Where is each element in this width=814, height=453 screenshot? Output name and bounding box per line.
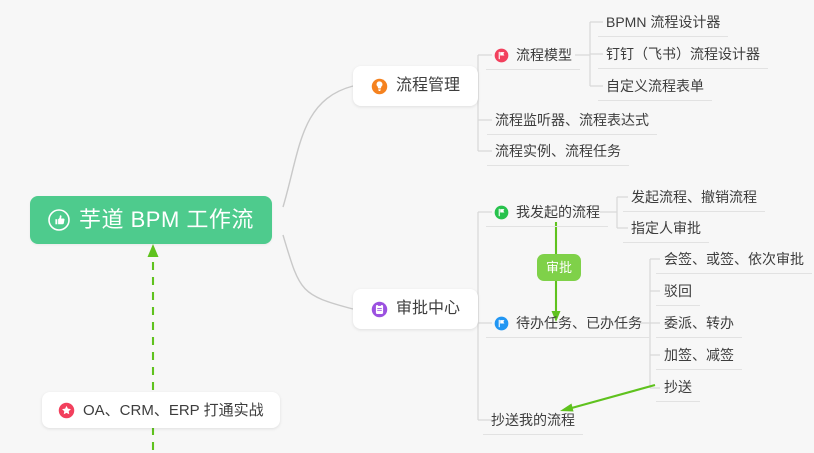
node-my-started-processes[interactable]: 我发起的流程 (486, 198, 608, 227)
leaf-label-bpmn-designer: BPMN 流程设计器 (606, 15, 720, 29)
leaf-label-cc: 抄送 (664, 380, 692, 394)
leaf-label-dingtalk-designer: 钉钉（飞书）流程设计器 (606, 47, 760, 61)
tag-label-approve: 审批 (546, 261, 572, 274)
clipboard-icon (371, 301, 388, 318)
lightbulb-icon (371, 78, 388, 95)
leaf-reject[interactable]: 驳回 (656, 277, 700, 306)
leaf-assignee-approval[interactable]: 指定人审批 (623, 214, 709, 243)
leaf-label-instance-task: 流程实例、流程任务 (495, 144, 621, 158)
leaf-instance-task[interactable]: 流程实例、流程任务 (487, 137, 629, 166)
leaf-label-countersign: 会签、或签、依次审批 (664, 252, 804, 266)
leaf-delegate-transfer[interactable]: 委派、转办 (656, 309, 742, 338)
leaf-label-assignee-approval: 指定人审批 (631, 221, 701, 235)
flag-icon-blue (494, 316, 509, 331)
tag-approve[interactable]: 审批 (537, 254, 581, 281)
node-process-management[interactable]: 流程管理 (353, 66, 478, 106)
leaf-cc-to-me[interactable]: 抄送我的流程 (483, 406, 583, 435)
leaf-label-add-remove-sign: 加签、减签 (664, 348, 734, 362)
leaf-listener-expression[interactable]: 流程监听器、流程表达式 (487, 106, 657, 135)
node-todo-done-tasks[interactable]: 待办任务、已办任务 (486, 309, 650, 338)
leaf-label-custom-form: 自定义流程表单 (606, 79, 704, 93)
leaf-label-reject: 驳回 (664, 284, 692, 298)
node-label-integration-practice: OA、CRM、ERP 打通实战 (83, 403, 264, 418)
leaf-dingtalk-designer[interactable]: 钉钉（飞书）流程设计器 (598, 40, 768, 69)
star-icon (58, 402, 75, 419)
leaf-label-cc-to-me: 抄送我的流程 (491, 413, 575, 427)
node-process-model[interactable]: 流程模型 (486, 41, 580, 70)
leaf-bpmn-designer[interactable]: BPMN 流程设计器 (598, 8, 728, 37)
node-label-approval-center: 审批中心 (396, 301, 460, 317)
root-node[interactable]: 芋道 BPM 工作流 (30, 196, 272, 244)
leaf-add-remove-sign[interactable]: 加签、减签 (656, 341, 742, 370)
node-label-process-model: 流程模型 (516, 48, 572, 62)
flag-icon-red (494, 48, 509, 63)
flag-icon-green (494, 205, 509, 220)
leaf-label-start-cancel-process: 发起流程、撤销流程 (631, 190, 757, 204)
thumbs-up-icon (48, 209, 70, 231)
leaf-label-delegate-transfer: 委派、转办 (664, 316, 734, 330)
node-approval-center[interactable]: 审批中心 (353, 289, 478, 329)
root-label: 芋道 BPM 工作流 (79, 209, 254, 231)
node-label-my-started-processes: 我发起的流程 (516, 205, 600, 219)
mindmap-canvas: 芋道 BPM 工作流 流程管理 流程模型 BPMN 流程设计器 钉钉（飞书）流 (0, 0, 814, 453)
node-integration-practice[interactable]: OA、CRM、ERP 打通实战 (42, 392, 280, 428)
leaf-custom-form[interactable]: 自定义流程表单 (598, 72, 712, 101)
leaf-countersign[interactable]: 会签、或签、依次审批 (656, 245, 812, 274)
leaf-cc[interactable]: 抄送 (656, 373, 700, 402)
node-label-process-management: 流程管理 (396, 78, 460, 94)
node-label-todo-done-tasks: 待办任务、已办任务 (516, 316, 642, 330)
leaf-start-cancel-process[interactable]: 发起流程、撤销流程 (623, 183, 765, 212)
leaf-label-listener-expression: 流程监听器、流程表达式 (495, 113, 649, 127)
